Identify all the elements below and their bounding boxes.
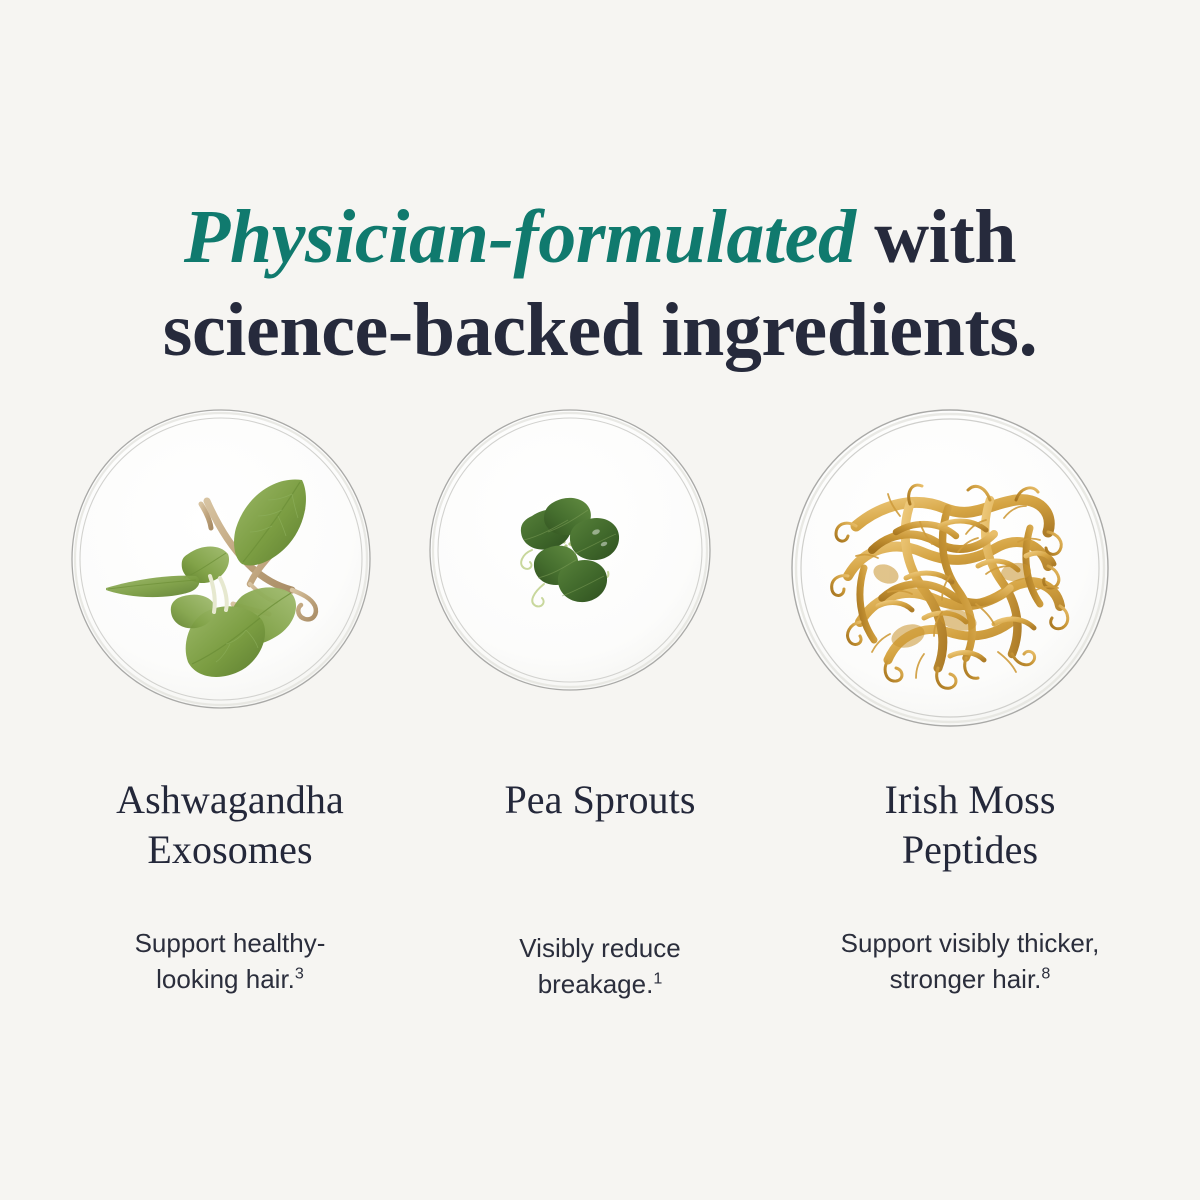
ingredient-name-line1: Irish Moss bbox=[884, 777, 1055, 822]
footnote-marker: 1 bbox=[653, 970, 662, 988]
petri-dish-pea-sprouts bbox=[428, 408, 712, 692]
petri-dish-ashwagandha bbox=[70, 408, 372, 710]
ingredient-desc-line2: looking hair. bbox=[156, 964, 295, 994]
ingredient-name: Irish Moss Peptides bbox=[770, 775, 1170, 876]
ingredient-column-irish-moss: Irish Moss Peptides Support visibly thic… bbox=[770, 775, 1170, 998]
headline-line2: science-backed ingredients. bbox=[0, 284, 1200, 377]
ingredient-description: Visibly reduce breakage.1 bbox=[400, 931, 800, 1003]
ingredient-text-columns: Ashwagandha Exosomes Support healthy- lo… bbox=[0, 775, 1200, 1035]
ingredient-column-pea-sprouts: Pea Sprouts Visibly reduce breakage.1 bbox=[400, 775, 800, 1003]
ingredient-column-ashwagandha: Ashwagandha Exosomes Support healthy- lo… bbox=[30, 775, 430, 998]
ingredient-desc-line1: Visibly reduce bbox=[519, 933, 680, 963]
ingredient-description: Support visibly thicker, stronger hair.8 bbox=[770, 926, 1170, 998]
ingredient-name-line2: Peptides bbox=[902, 827, 1038, 872]
headline-rest-line1: with bbox=[856, 195, 1017, 279]
ingredient-desc-line1: Support visibly thicker, bbox=[841, 928, 1100, 958]
headline-accent-text: Physician-formulated bbox=[184, 195, 856, 279]
ingredient-desc-line2: breakage. bbox=[538, 969, 654, 999]
ingredient-desc-line2: stronger hair. bbox=[890, 964, 1042, 994]
petri-dish-row bbox=[0, 408, 1200, 718]
ingredient-name: Ashwagandha Exosomes bbox=[30, 775, 430, 876]
ingredient-name-line1: Pea Sprouts bbox=[504, 777, 695, 822]
petri-dish-irish-moss bbox=[790, 408, 1110, 728]
page-title: Physician-formulated with science-backed… bbox=[0, 191, 1200, 376]
ingredient-name-line1: Ashwagandha bbox=[116, 777, 344, 822]
footnote-marker: 3 bbox=[295, 964, 304, 982]
ingredient-name: Pea Sprouts bbox=[400, 775, 800, 825]
footnote-marker: 8 bbox=[1041, 964, 1050, 982]
ingredient-description: Support healthy- looking hair.3 bbox=[30, 926, 430, 998]
ingredient-highlight-page: Physician-formulated with science-backed… bbox=[0, 0, 1200, 1200]
ingredient-name-line2: Exosomes bbox=[147, 827, 312, 872]
ingredient-desc-line1: Support healthy- bbox=[135, 928, 326, 958]
